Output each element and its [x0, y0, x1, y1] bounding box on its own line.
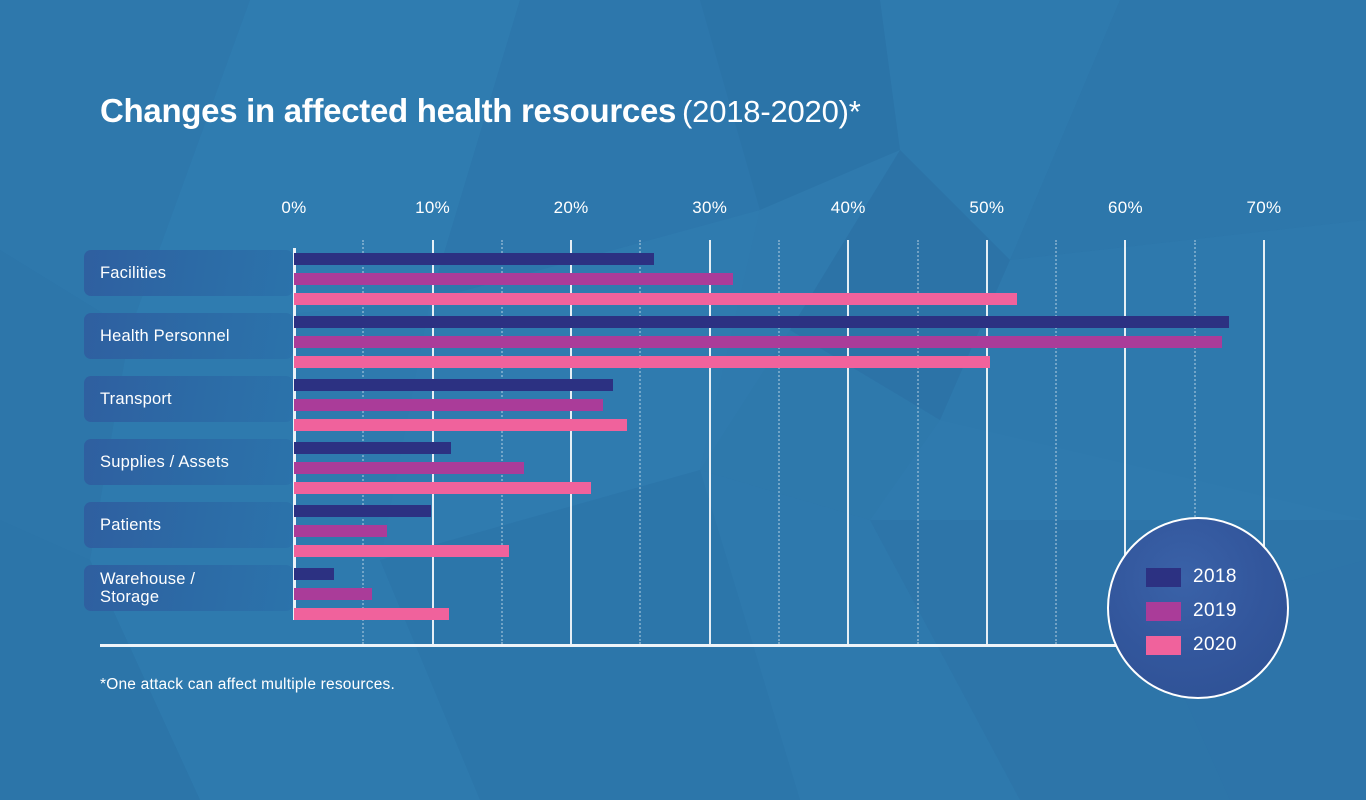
bar-2019[interactable] [294, 588, 372, 600]
category-pill[interactable]: Health Personnel [84, 313, 293, 359]
legend-item[interactable]: 2019 [1146, 600, 1237, 622]
category-pill[interactable]: Facilities [84, 250, 293, 296]
infographic-canvas: Changes in affected health resources(201… [0, 0, 1366, 800]
bar-2020[interactable] [294, 545, 509, 557]
category-pill-label: Health Personnel [100, 327, 230, 345]
category-pill-label: Warehouse / Storage [100, 570, 195, 607]
bar-2019[interactable] [294, 399, 603, 411]
legend-item[interactable]: 2020 [1146, 634, 1237, 656]
x-axis-baseline [100, 644, 1132, 647]
category-pill[interactable]: Warehouse / Storage [84, 565, 293, 611]
category-pill[interactable]: Supplies / Assets [84, 439, 293, 485]
legend-swatch-icon [1146, 602, 1181, 621]
bar-2018[interactable] [294, 568, 334, 580]
bar-2020[interactable] [294, 293, 1017, 305]
category-pill-label: Transport [100, 390, 172, 408]
chart-legend: 201820192020 [1107, 517, 1289, 699]
legend-swatch-icon [1146, 568, 1181, 587]
bar-2018[interactable] [294, 505, 431, 517]
bar-2020[interactable] [294, 356, 990, 368]
bar-2018[interactable] [294, 316, 1229, 328]
x-tick-label: 0% [281, 198, 306, 218]
legend-label: 2020 [1193, 634, 1237, 656]
gridline-minor [1055, 240, 1057, 644]
x-tick-label: 70% [1247, 198, 1282, 218]
legend-label: 2019 [1193, 600, 1237, 622]
footnote: *One attack can affect multiple resource… [100, 676, 395, 694]
bar-2018[interactable] [294, 253, 654, 265]
x-tick-label: 10% [415, 198, 450, 218]
category-pill-label: Supplies / Assets [100, 453, 229, 471]
category-pill-label: Patients [100, 516, 161, 534]
category-pill-label: Facilities [100, 264, 166, 282]
legend-item[interactable]: 2018 [1146, 566, 1237, 588]
x-tick-label: 60% [1108, 198, 1143, 218]
bar-2019[interactable] [294, 336, 1222, 348]
bar-2020[interactable] [294, 608, 449, 620]
bar-2018[interactable] [294, 379, 613, 391]
x-tick-label: 30% [692, 198, 727, 218]
bar-2019[interactable] [294, 273, 733, 285]
x-tick-label: 40% [831, 198, 866, 218]
legend-label: 2018 [1193, 566, 1237, 588]
bar-2019[interactable] [294, 525, 387, 537]
x-tick-label: 50% [969, 198, 1004, 218]
bar-2019[interactable] [294, 462, 524, 474]
legend-swatch-icon [1146, 636, 1181, 655]
category-pill[interactable]: Transport [84, 376, 293, 422]
bar-2020[interactable] [294, 419, 627, 431]
category-pill[interactable]: Patients [84, 502, 293, 548]
bar-2018[interactable] [294, 442, 451, 454]
bar-2020[interactable] [294, 482, 591, 494]
x-tick-label: 20% [554, 198, 589, 218]
